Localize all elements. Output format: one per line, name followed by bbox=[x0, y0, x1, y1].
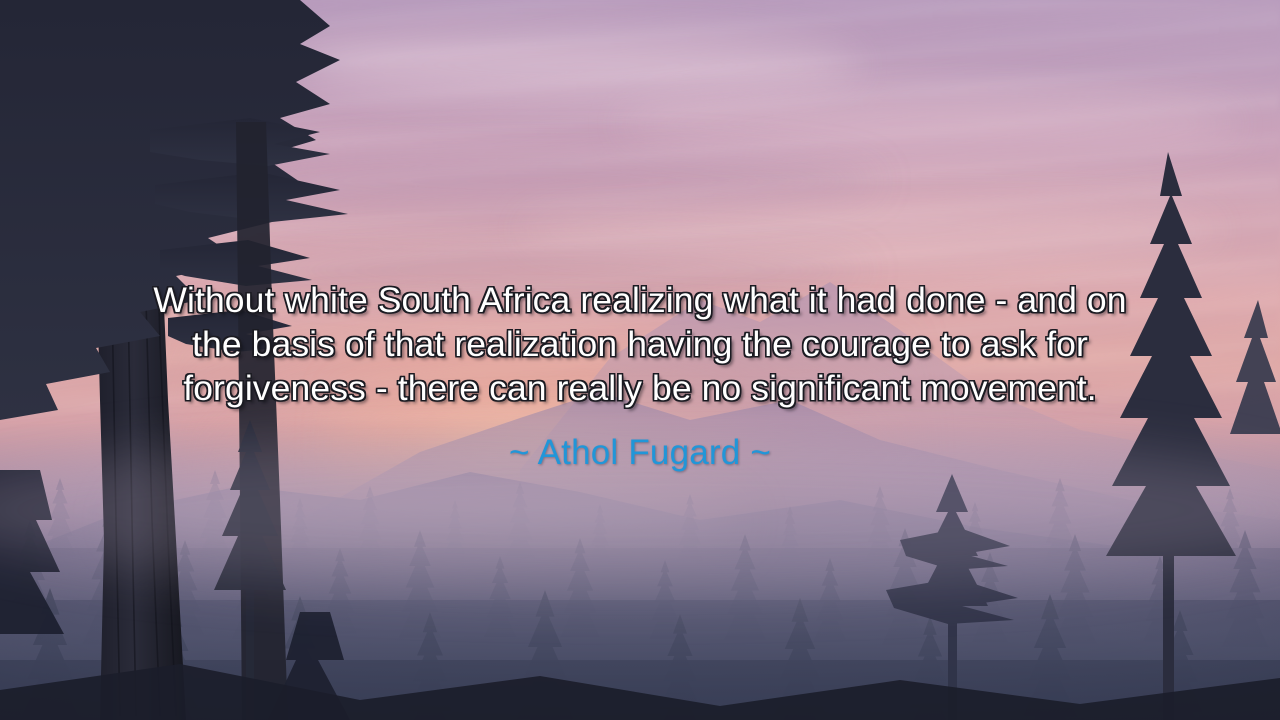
quote-line-2: the basis of that realization having the… bbox=[80, 322, 1200, 366]
quote-line-3: forgiveness - there can really be no sig… bbox=[80, 366, 1200, 410]
quote-author: ~ Athol Fugard ~ bbox=[0, 432, 1280, 474]
quote-image-canvas: Without white South Africa realizing wha… bbox=[0, 0, 1280, 720]
quote-line-1: Without white South Africa realizing wha… bbox=[80, 278, 1200, 322]
quote-overlay: Without white South Africa realizing wha… bbox=[0, 278, 1280, 474]
